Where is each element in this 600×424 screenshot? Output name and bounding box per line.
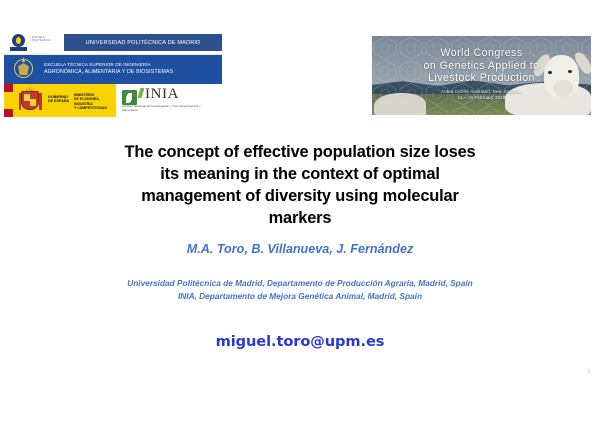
upm-seal-icon: [10, 34, 27, 51]
affiliation-line-1: Universidad Politécnica de Madrid, Depar…: [40, 277, 560, 290]
etsiaab-logo-row: ESCUELA TÉCNICA SUPERIOR DE INGENIERÍA A…: [4, 55, 222, 84]
inia-logo: INIA Instituto Nacional de Investigación…: [116, 84, 222, 117]
inia-wordmark: INIA: [145, 87, 179, 102]
upm-wordmark-band: UNIVERSIDAD POLITÉCNICA DE MADRID: [64, 34, 222, 51]
government-inia-row: GOBIERNO DE ESPAÑA MINISTERIO DE ECONOMÍ…: [4, 84, 222, 117]
upm-wordmark: UNIVERSIDAD POLITÉCNICA DE MADRID: [86, 40, 201, 46]
etsiaab-name: ESCUELA TÉCNICA SUPERIOR DE INGENIERÍA A…: [44, 61, 218, 76]
inia-subtitle: Instituto Nacional de Investigación y Te…: [122, 105, 214, 113]
page-title: The concept of effective population size…: [70, 141, 530, 229]
inia-accent-icon: [138, 88, 145, 98]
etsiaab-line-2: AGRONÓMICA, ALIMENTARIA Y DE BIOSISTEMAS: [44, 69, 218, 77]
page-number: 1: [587, 368, 591, 376]
institution-logo-block: ESCUELA POLITÉCNICA UNIVERSIDAD POLITÉCN…: [4, 31, 222, 117]
affiliations-block: Universidad Politécnica de Madrid, Depar…: [40, 277, 560, 304]
banner-title-line-2: on Genetics Applied to: [372, 60, 591, 73]
title-line-2: its meaning in the context of optimal: [70, 163, 530, 185]
contact-email[interactable]: miguel.toro@upm.es: [60, 332, 540, 351]
banner-title-line-1: World Congress: [372, 47, 591, 60]
etsiaab-line-1: ESCUELA TÉCNICA SUPERIOR DE INGENIERÍA: [44, 61, 218, 69]
upm-small-label: ESCUELA POLITÉCNICA: [32, 36, 60, 42]
spain-flag-stripe-icon: [4, 84, 13, 117]
upm-logo-row: ESCUELA POLITÉCNICA UNIVERSIDAD POLITÉCN…: [4, 31, 222, 55]
banner-text-block: World Congress on Genetics Applied to Li…: [372, 47, 591, 101]
affiliation-line-2: INIA, Departamento de Mejora Genética An…: [40, 290, 560, 303]
etsiaab-crest-icon: [12, 58, 35, 81]
inia-leaf-icon: [122, 90, 137, 105]
spain-coat-of-arms-icon: [18, 87, 42, 114]
title-line-3: management of diversity using molecular: [70, 185, 530, 207]
banner-dates: 11 – 16 February 2018: [372, 95, 591, 101]
spain-government-logo: GOBIERNO DE ESPAÑA MINISTERIO DE ECONOMÍ…: [4, 84, 116, 117]
congress-banner: World Congress on Genetics Applied to Li…: [372, 36, 591, 115]
ministry-label: MINISTERIO DE ECONOMÍA, INDUSTRIA Y COMP…: [74, 93, 116, 110]
authors-line: M.A. Toro, B. Villanueva, J. Fernández: [60, 241, 540, 257]
banner-title-line-3: Livestock Production: [372, 72, 591, 85]
government-label: GOBIERNO DE ESPAÑA: [48, 95, 69, 104]
title-line-4: markers: [70, 207, 530, 229]
title-line-1: The concept of effective population size…: [70, 141, 530, 163]
